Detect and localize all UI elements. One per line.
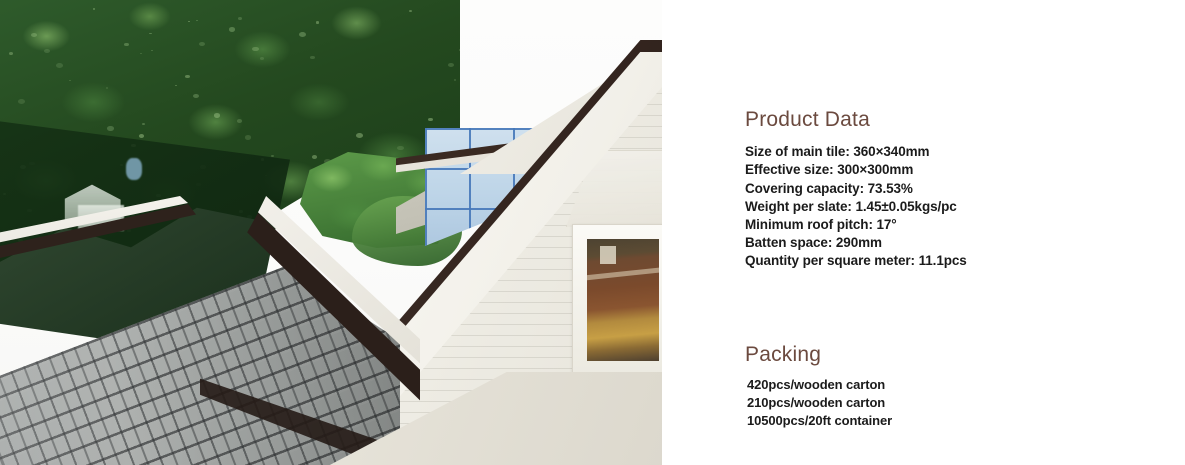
packing-item-10500pcs: 10500pcs/20ft container <box>745 412 892 430</box>
foliage-highlight <box>193 94 199 98</box>
packing-title: Packing <box>745 343 892 366</box>
foliage-highlight <box>107 126 114 131</box>
foliage-highlight <box>44 49 50 53</box>
foliage-highlight <box>140 53 143 55</box>
packing-item-420pcs: 420pcs/wooden carton <box>745 376 892 394</box>
product-data-list: Size of main tile: 360×340mm Effective s… <box>745 143 967 270</box>
foliage-highlight <box>214 113 220 118</box>
foliage-highlight <box>397 146 404 151</box>
distant-blue-object <box>126 158 142 180</box>
specification-panel: Product Data Size of main tile: 360×340m… <box>662 0 1185 465</box>
foliage-highlight <box>454 79 456 81</box>
spec-item-size-of-main-tile: Size of main tile: 360×340mm <box>745 143 967 161</box>
foliage-highlight <box>245 135 251 139</box>
foliage-highlight <box>409 10 412 12</box>
foliage-highlight <box>93 8 95 10</box>
spec-item-covering-capacity: Covering capacity: 73.53% <box>745 180 967 198</box>
foliage-highlight <box>9 52 13 55</box>
foliage-highlight <box>229 27 235 31</box>
foliage-highlight <box>428 118 433 121</box>
foliage-highlight <box>151 50 153 52</box>
gable-window <box>572 224 662 374</box>
foliage-highlight <box>31 33 37 37</box>
foliage-highlight <box>312 155 317 159</box>
foliage-highlight <box>175 85 177 87</box>
spec-item-effective-size: Effective size: 300×300mm <box>745 161 967 179</box>
foliage-highlight <box>18 99 25 104</box>
foliage-highlight <box>149 33 151 35</box>
foliage-highlight <box>356 133 363 138</box>
foliage-highlight <box>139 134 144 138</box>
product-photo <box>0 0 662 465</box>
spec-item-quantity-per-sqm: Quantity per square meter: 11.1pcs <box>745 252 967 270</box>
foliage-highlight <box>69 80 71 81</box>
spec-item-batten-space: Batten space: 290mm <box>745 234 967 252</box>
foliage-highlight <box>185 75 190 78</box>
spec-item-weight-per-slate: Weight per slate: 1.45±0.05kgs/pc <box>745 198 967 216</box>
foliage-highlight <box>260 57 264 60</box>
spec-item-minimum-roof-pitch: Minimum roof pitch: 17° <box>745 216 967 234</box>
foliage-highlight <box>316 21 320 23</box>
foliage-highlight <box>56 63 63 68</box>
foliage-highlight <box>196 20 198 22</box>
foliage-highlight <box>199 42 205 46</box>
foliage-highlight <box>237 119 242 122</box>
packing-item-210pcs: 210pcs/wooden carton <box>745 394 892 412</box>
packing-section: Packing 420pcs/wooden carton 210pcs/wood… <box>745 343 892 430</box>
foliage-highlight <box>188 21 190 22</box>
foliage-highlight <box>238 17 243 20</box>
foliage-highlight <box>106 87 109 89</box>
foliage-highlight <box>448 63 454 67</box>
foliage-highlight <box>252 47 258 51</box>
foliage-highlight <box>271 155 274 157</box>
product-data-section: Product Data Size of main tile: 360×340m… <box>745 108 967 271</box>
product-data-title: Product Data <box>745 108 967 131</box>
foliage-highlight <box>142 123 145 125</box>
packing-list: 420pcs/wooden carton 210pcs/wooden carto… <box>745 376 892 430</box>
foliage-highlight <box>310 56 315 60</box>
foliage-highlight <box>299 32 306 37</box>
window-glass-reflection <box>587 239 659 361</box>
foliage-highlight <box>124 43 129 46</box>
